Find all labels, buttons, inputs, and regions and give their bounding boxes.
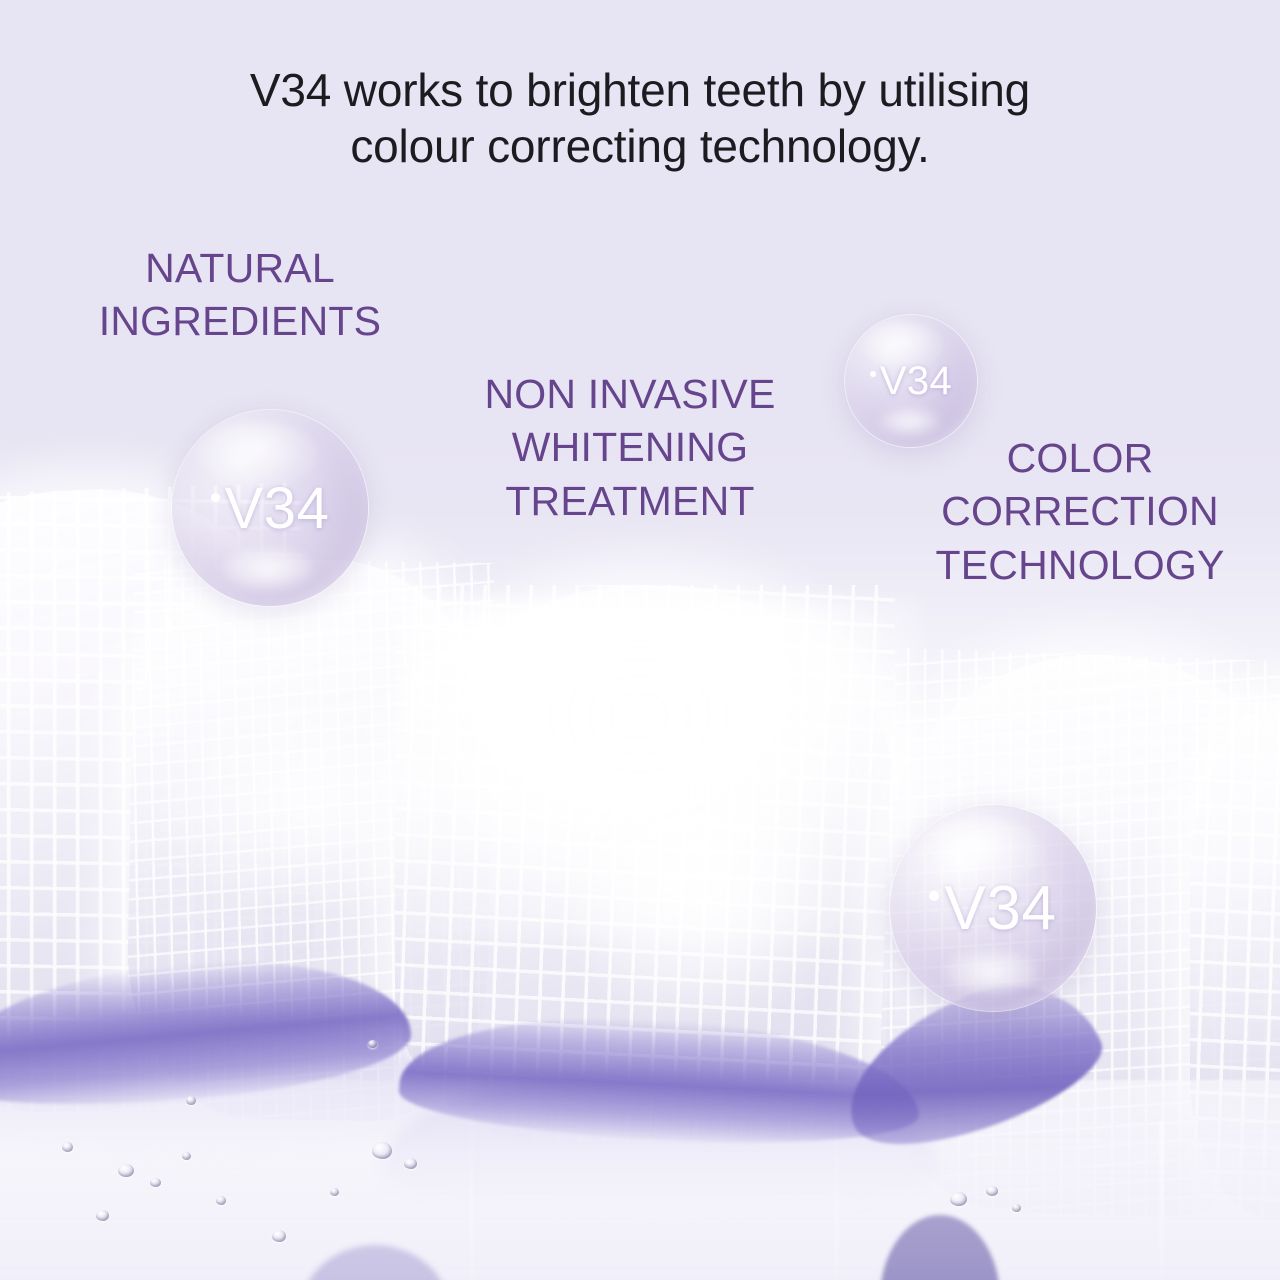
feature-line-2: INGREDIENTS xyxy=(40,295,440,348)
water-droplet xyxy=(272,1230,286,1242)
bubble-dot-icon xyxy=(870,371,876,377)
water-droplet xyxy=(404,1158,417,1169)
v34-bubble-text: V34 xyxy=(225,475,330,542)
left-tooth-glow xyxy=(160,690,460,910)
water-droplet xyxy=(186,1096,196,1105)
bubble-dot-icon xyxy=(929,891,939,901)
water-droplet xyxy=(182,1152,191,1160)
v34-bubble-text: V34 xyxy=(944,873,1056,944)
v34-bubble-label: V34 xyxy=(929,873,1056,944)
headline-line-1: V34 works to brighten teeth by utilising xyxy=(110,62,1170,118)
feature-line-3: TECHNOLOGY xyxy=(880,539,1280,592)
feature-line-2: CORRECTION xyxy=(880,485,1280,538)
water-droplet xyxy=(986,1186,998,1196)
water-droplet xyxy=(118,1164,134,1177)
water-droplet xyxy=(62,1142,73,1152)
headline: V34 works to brighten teeth by utilising… xyxy=(0,62,1280,174)
water-droplet xyxy=(372,1142,392,1159)
v34-bubble-text: V34 xyxy=(880,359,952,404)
water-droplet xyxy=(368,1040,377,1048)
v34-bubble-top: V34 xyxy=(845,315,977,447)
feature-line-1: NON INVASIVE xyxy=(420,368,840,421)
water-droplet xyxy=(1012,1204,1021,1212)
bubble-dot-icon xyxy=(211,493,220,502)
water-droplet xyxy=(216,1196,226,1205)
feature-label-non-invasive-whitening-treatment: NON INVASIVE WHITENING TREATMENT xyxy=(420,368,840,528)
feature-line-1: COLOR xyxy=(880,432,1280,485)
headline-line-2: colour correcting technology. xyxy=(110,118,1170,174)
feature-line-3: TREATMENT xyxy=(420,475,840,528)
v34-bubble-left: V34 xyxy=(172,410,368,606)
v34-bubble-right: V34 xyxy=(890,805,1096,1011)
v34-bubble-label: V34 xyxy=(870,359,952,404)
feature-label-color-correction-technology: COLOR CORRECTION TECHNOLOGY xyxy=(880,432,1280,592)
water-droplet xyxy=(950,1192,967,1206)
lower-tooth-separator xyxy=(1160,1120,1163,1280)
v34-bubble-label: V34 xyxy=(211,475,330,542)
feature-line-1: NATURAL xyxy=(40,242,440,295)
feature-line-2: WHITENING xyxy=(420,421,840,474)
teeth-photo-background xyxy=(0,0,1280,1280)
water-droplet xyxy=(96,1210,109,1221)
feature-label-natural-ingredients: NATURAL INGREDIENTS xyxy=(40,242,440,349)
product-feature-graphic: V34 works to brighten teeth by utilising… xyxy=(0,0,1280,1280)
center-tooth-secondary-glow xyxy=(560,760,840,1020)
water-droplet xyxy=(150,1178,161,1187)
water-droplet xyxy=(330,1188,339,1196)
